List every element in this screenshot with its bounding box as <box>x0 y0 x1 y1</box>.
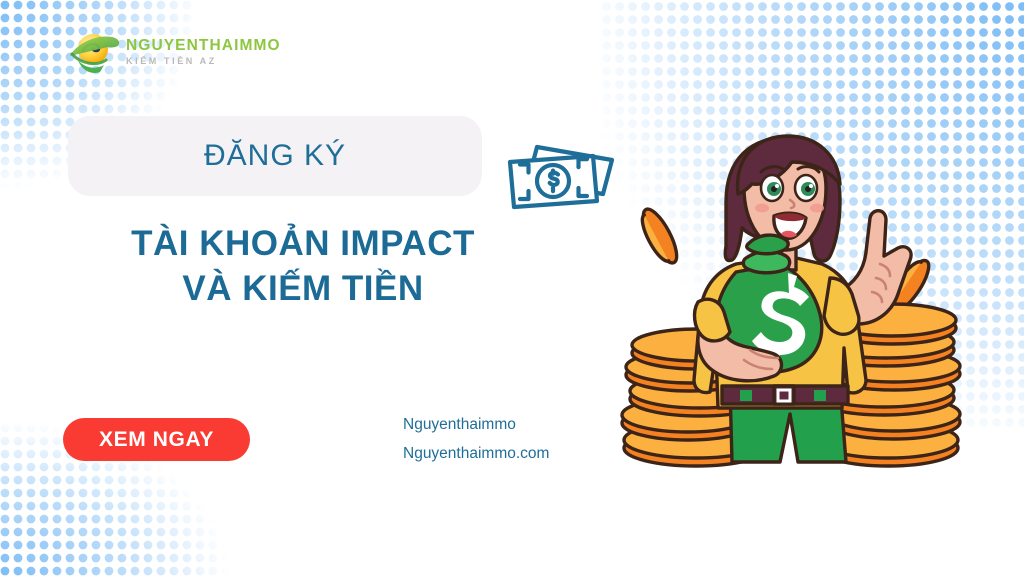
logo-title: NGUYENTHAIMMO <box>126 38 281 54</box>
website-url-text[interactable]: Nguyenthaimmo.com <box>403 445 549 463</box>
flying-coin-left <box>635 205 683 268</box>
banknotes-dollar-icon <box>500 138 622 222</box>
hero-illustration: .ol{stroke:#3d2418;stroke-width:3.4;stro… <box>618 118 978 478</box>
page-title: TÀI KHOẢN IMPACT VÀ KIẾM TIỀN <box>68 222 538 312</box>
brand-logo[interactable]: NGUYENTHAIMMO KIẾM TIỀN AZ <box>66 28 276 74</box>
headline-line-2: VÀ KIẾM TIỀN <box>68 267 538 312</box>
cta-button[interactable]: XEM NGAY <box>63 418 250 461</box>
brand-name-text: Nguyenthaimmo <box>403 416 549 434</box>
logo-tagline: KIẾM TIỀN AZ <box>126 57 281 66</box>
kicker-label: ĐĂNG KÝ <box>68 116 482 196</box>
headline-line-1: TÀI KHOẢN IMPACT <box>68 222 538 267</box>
contact-block: Nguyenthaimmo Nguyenthaimmo.com <box>403 416 549 463</box>
globe-swoosh-icon <box>66 29 120 73</box>
promo-banner: NGUYENTHAIMMO KIẾM TIỀN AZ ĐĂNG KÝ TÀI K… <box>0 0 1024 576</box>
